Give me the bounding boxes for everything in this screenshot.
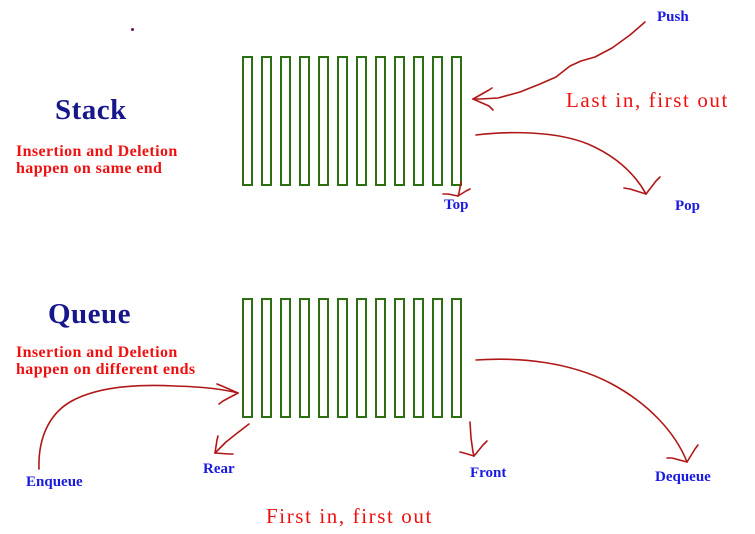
enqueue-label: Enqueue: [26, 474, 83, 491]
stack-cell: [280, 56, 291, 186]
queue-note: Insertion and Deletion happen on differe…: [16, 344, 196, 378]
queue-note-line-2: happen on different ends: [16, 361, 196, 378]
queue-heading: Queue: [48, 298, 131, 331]
queue-cell: [451, 298, 462, 418]
stack-cell: [318, 56, 329, 186]
stack-cell: [451, 56, 462, 186]
stack-cell: [375, 56, 386, 186]
queue-cell: [356, 298, 367, 418]
top-label: Top: [444, 197, 468, 214]
stack-cell: [394, 56, 405, 186]
pop-label: Pop: [675, 198, 700, 215]
stack-cell: [413, 56, 424, 186]
queue-cell: [242, 298, 253, 418]
diagram-canvas: Stack Insertion and Deletion happen on s…: [0, 0, 755, 534]
stack-cell: [299, 56, 310, 186]
pop-arrow-icon: [476, 133, 660, 194]
queue-cell: [432, 298, 443, 418]
dequeue-label: Dequeue: [655, 469, 711, 486]
queue-note-line-1: Insertion and Deletion: [16, 344, 196, 361]
stray-dot: [131, 28, 134, 31]
queue-cell: [337, 298, 348, 418]
queue-cell: [413, 298, 424, 418]
enqueue-arrow-icon: [39, 384, 238, 469]
rear-label: Rear: [203, 461, 235, 478]
dequeue-arrow-icon: [476, 359, 698, 462]
push-label: Push: [657, 9, 689, 26]
stack-note: Insertion and Deletion happen on same en…: [16, 143, 178, 177]
stack-cell: [356, 56, 367, 186]
queue-cell: [261, 298, 272, 418]
queue-cell: [394, 298, 405, 418]
queue-cells: [242, 298, 462, 418]
queue-cell: [299, 298, 310, 418]
stack-cell: [261, 56, 272, 186]
stack-heading: Stack: [55, 94, 127, 127]
front-label: Front: [470, 465, 506, 482]
stack-cell: [242, 56, 253, 186]
stack-cells: [242, 56, 462, 186]
stack-slogan: Last in, first out: [566, 88, 729, 113]
stack-note-line-2: happen on same end: [16, 160, 178, 177]
queue-slogan: First in, first out: [266, 504, 433, 529]
stack-cell: [432, 56, 443, 186]
rear-arrow-icon: [215, 424, 249, 454]
front-arrow-icon: [460, 422, 487, 456]
queue-cell: [318, 298, 329, 418]
queue-cell: [280, 298, 291, 418]
queue-cell: [375, 298, 386, 418]
stack-note-line-1: Insertion and Deletion: [16, 143, 178, 160]
stack-cell: [337, 56, 348, 186]
